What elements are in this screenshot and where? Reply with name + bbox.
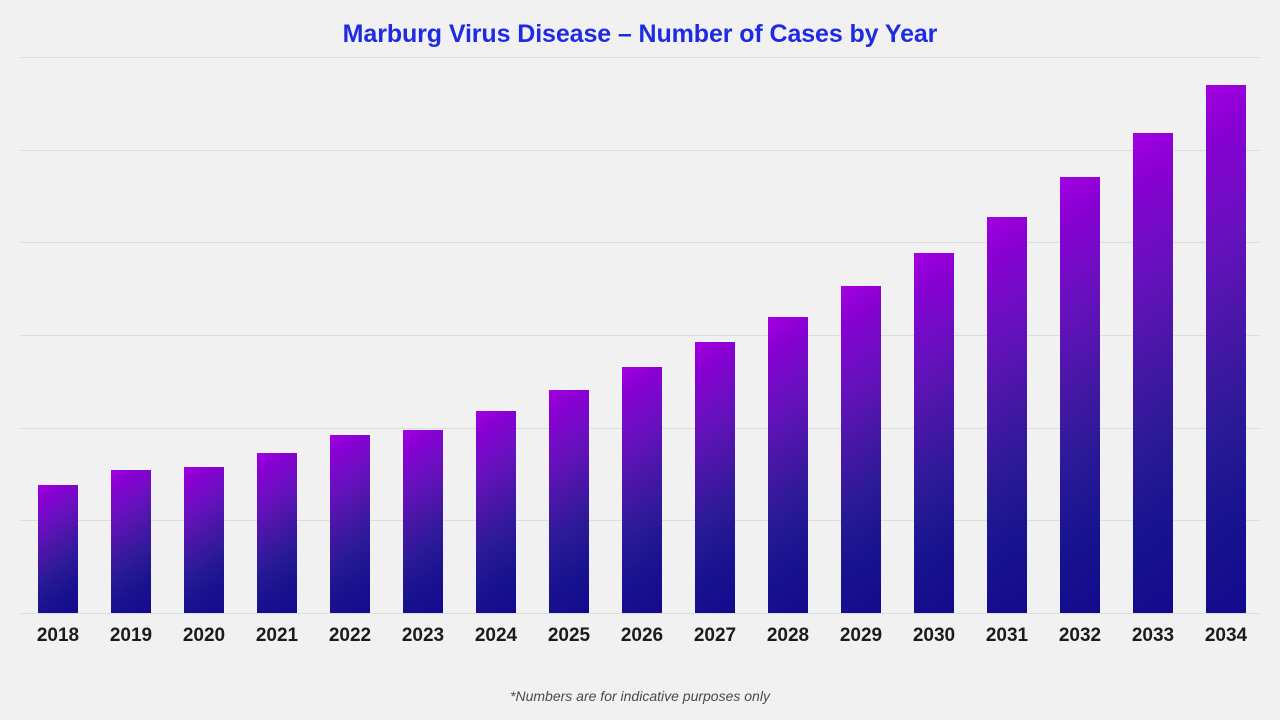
bar-2026[interactable] <box>622 367 662 613</box>
bar-2025[interactable] <box>549 390 589 613</box>
bar-2018[interactable] <box>38 485 78 613</box>
x-tick-label-2028: 2028 <box>751 625 825 647</box>
x-tick-label-2031: 2031 <box>970 625 1044 647</box>
x-tick-label-2027: 2027 <box>678 625 752 647</box>
x-tick-label-2024: 2024 <box>459 625 533 647</box>
x-tick-label-2026: 2026 <box>605 625 679 647</box>
bar-2021[interactable] <box>257 453 297 613</box>
x-tick-label-2029: 2029 <box>824 625 898 647</box>
bar-2029[interactable] <box>841 286 881 613</box>
bar-2032[interactable] <box>1060 177 1100 613</box>
bar-2020[interactable] <box>184 467 224 613</box>
x-tick-label-2022: 2022 <box>313 625 387 647</box>
x-tick-label-2030: 2030 <box>897 625 971 647</box>
x-tick-label-2020: 2020 <box>167 625 241 647</box>
chart-container: Marburg Virus Disease – Number of Cases … <box>0 0 1280 720</box>
bar-2028[interactable] <box>768 317 808 613</box>
bar-2033[interactable] <box>1133 133 1173 613</box>
x-tick-label-2032: 2032 <box>1043 625 1117 647</box>
bar-series <box>0 0 1280 613</box>
x-axis-baseline <box>20 613 1260 614</box>
x-tick-label-2034: 2034 <box>1189 625 1263 647</box>
x-tick-label-2033: 2033 <box>1116 625 1190 647</box>
x-tick-label-2023: 2023 <box>386 625 460 647</box>
bar-2034[interactable] <box>1206 85 1246 613</box>
x-tick-label-2019: 2019 <box>94 625 168 647</box>
chart-footnote: *Numbers are for indicative purposes onl… <box>0 688 1280 704</box>
bar-2031[interactable] <box>987 217 1027 613</box>
bar-2022[interactable] <box>330 435 370 613</box>
x-tick-label-2021: 2021 <box>240 625 314 647</box>
x-axis-labels: 2018201920202021202220232024202520262027… <box>0 625 1280 663</box>
bar-2019[interactable] <box>111 470 151 613</box>
bar-2023[interactable] <box>403 430 443 613</box>
bar-2024[interactable] <box>476 411 516 613</box>
bar-2027[interactable] <box>695 342 735 613</box>
bar-2030[interactable] <box>914 253 954 613</box>
x-tick-label-2025: 2025 <box>532 625 606 647</box>
x-tick-label-2018: 2018 <box>21 625 95 647</box>
